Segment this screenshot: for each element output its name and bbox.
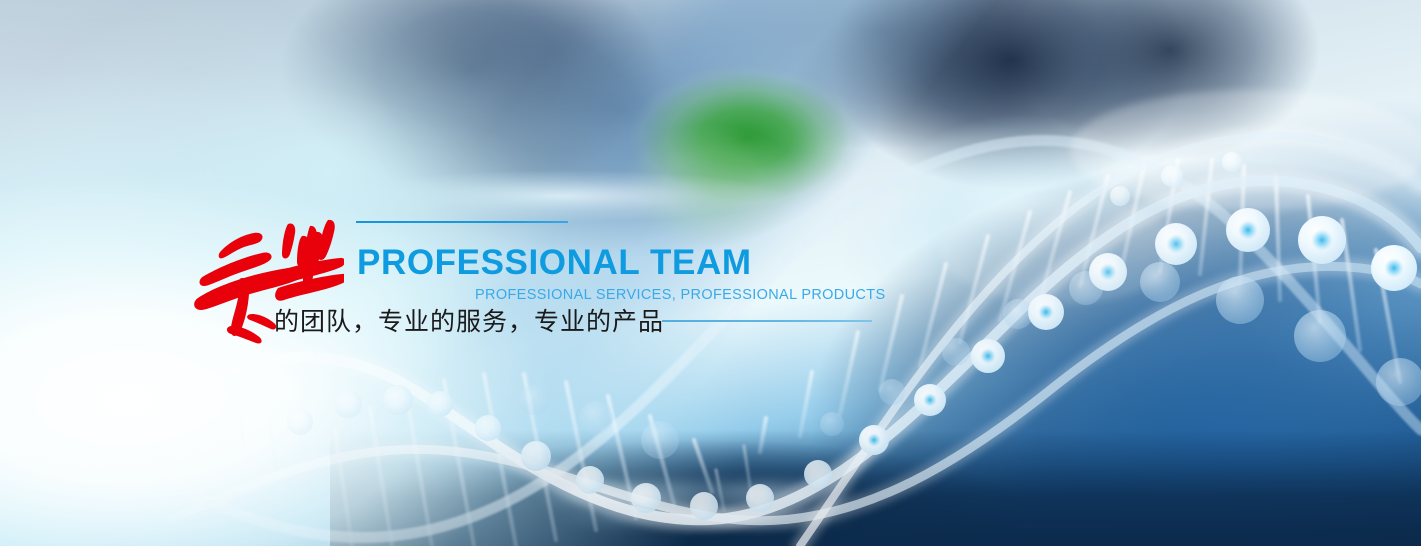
page-title: PROFESSIONAL TEAM (357, 243, 752, 283)
chinese-tagline: 的团队，专业的服务，专业的产品 (274, 306, 664, 338)
page-subtitle: PROFESSIONAL SERVICES, PROFESSIONAL PROD… (475, 286, 885, 304)
divider-line-top (356, 221, 568, 223)
hero-banner: PROFESSIONAL TEAM PROFESSIONAL SERVICES,… (0, 0, 1421, 546)
divider-line-bottom (662, 320, 872, 322)
banner-text-block: PROFESSIONAL TEAM PROFESSIONAL SERVICES,… (0, 0, 1421, 546)
